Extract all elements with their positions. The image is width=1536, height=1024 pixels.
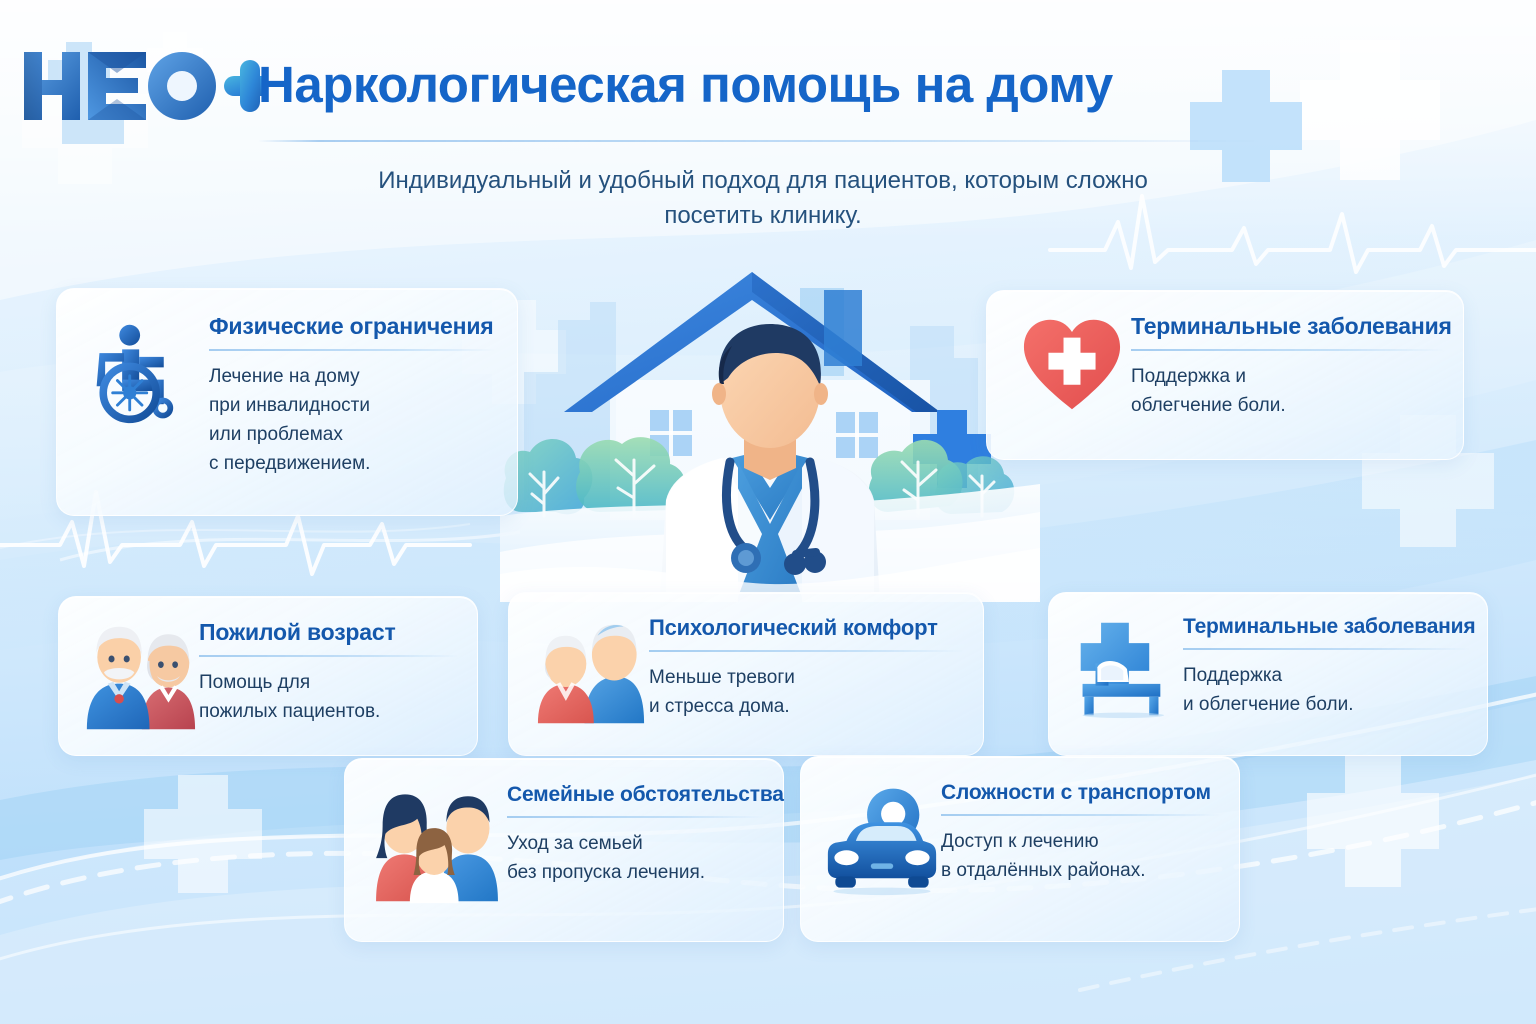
card-text-line: облегчение боли.	[1131, 391, 1445, 420]
card-divider	[199, 655, 459, 657]
card-title: Терминальные заболевания	[1183, 615, 1471, 639]
card-text-line: в отдалённых районах.	[941, 856, 1221, 885]
neo-plus-logo-icon	[18, 32, 268, 144]
card-divider	[1183, 648, 1471, 650]
card-text-line: и облегчение боли.	[1183, 690, 1471, 719]
card-divider	[649, 650, 965, 652]
heart-cross-icon	[1013, 313, 1131, 413]
card-text-line: или проблемах	[209, 420, 497, 449]
card-text-line: Поддержка	[1183, 661, 1471, 690]
wheelchair-icon	[83, 313, 201, 425]
card-text: Поддержка и облегчение боли.	[1183, 661, 1471, 719]
hospital-bed-cross-icon	[1071, 615, 1183, 719]
card-text-line: при инвалидности	[209, 391, 497, 420]
subtitle-line-2: посетить клинику.	[258, 198, 1268, 233]
card-title: Сложности с транспортом	[941, 781, 1221, 805]
card-text-line: Поддержка и	[1131, 362, 1445, 391]
card-transport-difficulties[interactable]: Сложности с транспортом Доступ к лечению…	[800, 756, 1240, 942]
elderly-couple-icon	[81, 619, 199, 733]
card-body: Психологический комфорт Меньше тревоги и…	[649, 615, 965, 721]
card-psychological-comfort[interactable]: Психологический комфорт Меньше тревоги и…	[508, 592, 984, 756]
doctor-at-home-illustration	[500, 262, 1040, 602]
card-text: Доступ к лечению в отдалённых районах.	[941, 827, 1221, 885]
infographic-canvas: Наркологическая помощь на дому Индивидуа…	[0, 0, 1536, 1024]
header-divider	[258, 140, 1268, 142]
card-title: Семейные обстоятельства	[507, 783, 765, 807]
card-text: Помощь для пожилых пациентов.	[199, 668, 459, 726]
card-text-line: Помощь для	[199, 668, 459, 697]
card-physical-limitations[interactable]: Физические ограничения Лечение на дому п…	[56, 288, 518, 516]
card-text: Уход за семьей без пропуска лечения.	[507, 829, 765, 887]
page-subtitle: Индивидуальный и удобный подход для паци…	[258, 163, 1268, 233]
card-text-line: без пропуска лечения.	[507, 858, 765, 887]
card-divider	[209, 349, 497, 351]
car-location-pin-icon	[823, 781, 941, 897]
card-text-line: с передвижением.	[209, 449, 497, 478]
card-text: Поддержка и облегчение боли.	[1131, 362, 1445, 420]
card-title: Пожилой возраст	[199, 619, 459, 646]
card-text-line: и стресса дома.	[649, 692, 965, 721]
card-text: Меньше тревоги и стресса дома.	[649, 663, 965, 721]
house-chimney	[824, 290, 862, 366]
card-body: Физические ограничения Лечение на дому п…	[201, 313, 497, 478]
card-title: Физические ограничения	[209, 313, 497, 340]
card-text-line: Уход за семьей	[507, 829, 765, 858]
page-title: Наркологическая помощь на дому	[258, 55, 1113, 114]
card-body: Семейные обстоятельства Уход за семьей б…	[507, 783, 765, 887]
card-terminal-illness-bottom[interactable]: Терминальные заболевания Поддержка и обл…	[1048, 592, 1488, 756]
card-family-circumstances[interactable]: Семейные обстоятельства Уход за семьей б…	[344, 758, 784, 942]
neo-plus-logo[interactable]	[18, 32, 268, 144]
two-people-icon	[533, 615, 649, 727]
card-text-line: Лечение на дому	[209, 362, 497, 391]
card-body: Сложности с транспортом Доступ к лечению…	[941, 781, 1221, 885]
card-text-line: пожилых пациентов.	[199, 697, 459, 726]
card-body: Терминальные заболевания Поддержка и обл…	[1131, 313, 1445, 420]
card-text: Лечение на дому при инвалидности или про…	[209, 362, 497, 478]
illustration-svg	[500, 262, 1040, 602]
subtitle-line-1: Индивидуальный и удобный подход для паци…	[258, 163, 1268, 198]
card-text-line: Меньше тревоги	[649, 663, 965, 692]
card-terminal-illness-top[interactable]: Терминальные заболевания Поддержка и обл…	[986, 290, 1464, 460]
card-text-line: Доступ к лечению	[941, 827, 1221, 856]
card-divider	[507, 816, 765, 818]
card-divider	[941, 814, 1221, 816]
card-elderly-age[interactable]: Пожилой возраст Помощь для пожилых пацие…	[58, 596, 478, 756]
card-title: Психологический комфорт	[649, 615, 965, 641]
card-body: Терминальные заболевания Поддержка и обл…	[1183, 615, 1471, 719]
card-divider	[1131, 349, 1445, 351]
card-title: Терминальные заболевания	[1131, 313, 1445, 340]
family-icon	[367, 783, 507, 905]
card-body: Пожилой возраст Помощь для пожилых пацие…	[199, 619, 459, 726]
page-header: Наркологическая помощь на дому Индивидуа…	[0, 0, 1536, 245]
